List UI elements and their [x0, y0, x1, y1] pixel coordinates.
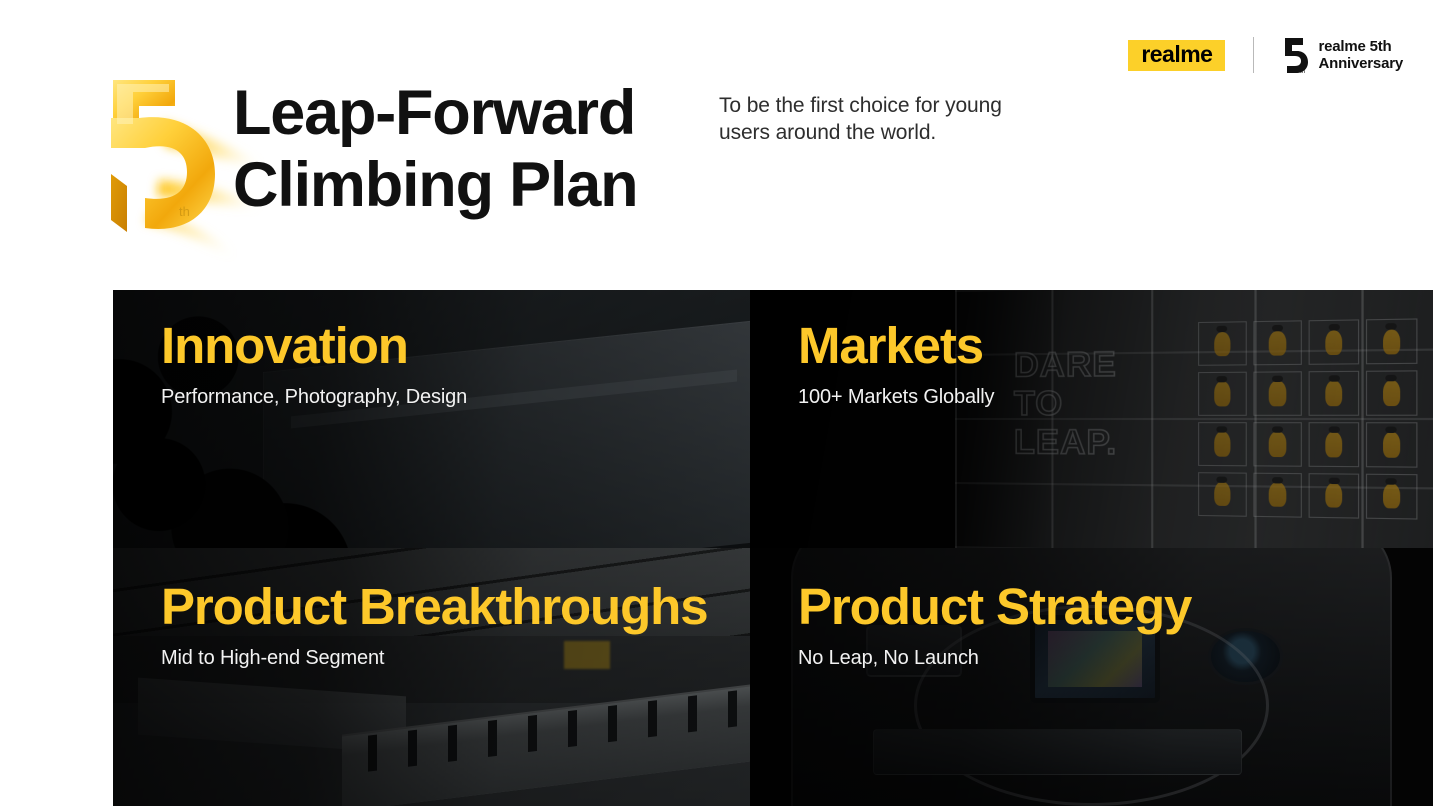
product-strategy-copy: Product Strategy No Leap, No Launch	[798, 581, 1191, 670]
page-tagline: To be the first choice for young users a…	[719, 93, 1002, 147]
product-strategy-subheading: No Leap, No Launch	[798, 647, 1191, 670]
innovation-subheading: Performance, Photography, Design	[161, 386, 467, 409]
innovation-copy: Innovation Performance, Photography, Des…	[161, 320, 467, 409]
panel-markets[interactable]: DARE TO LEAP.	[750, 290, 1433, 548]
markets-subheading: 100+ Markets Globally	[798, 386, 994, 409]
slide-root: realme th realme 5th Anniversary	[0, 0, 1433, 806]
svg-text:th: th	[179, 204, 190, 219]
innovation-heading: Innovation	[161, 320, 467, 372]
product-breakthroughs-heading: Product Breakthroughs	[161, 581, 707, 633]
product-strategy-heading: Product Strategy	[798, 581, 1191, 633]
markets-heading: Markets	[798, 320, 994, 372]
page-title: Leap-Forward Climbing Plan	[233, 78, 637, 222]
product-breakthroughs-copy: Product Breakthroughs Mid to High-end Se…	[161, 581, 707, 670]
panel-product-strategy[interactable]: Product Strategy No Leap, No Launch	[750, 548, 1433, 806]
panel-innovation[interactable]: Innovation Performance, Photography, Des…	[113, 290, 750, 548]
pillar-grid: Innovation Performance, Photography, Des…	[113, 290, 1433, 806]
title-zone: th Leap-Forward Climbing Plan To be the …	[0, 0, 1433, 288]
panel-product-breakthroughs[interactable]: Product Breakthroughs Mid to High-end Se…	[113, 548, 750, 806]
product-breakthroughs-subheading: Mid to High-end Segment	[161, 647, 707, 670]
markets-copy: Markets 100+ Markets Globally	[798, 320, 994, 409]
